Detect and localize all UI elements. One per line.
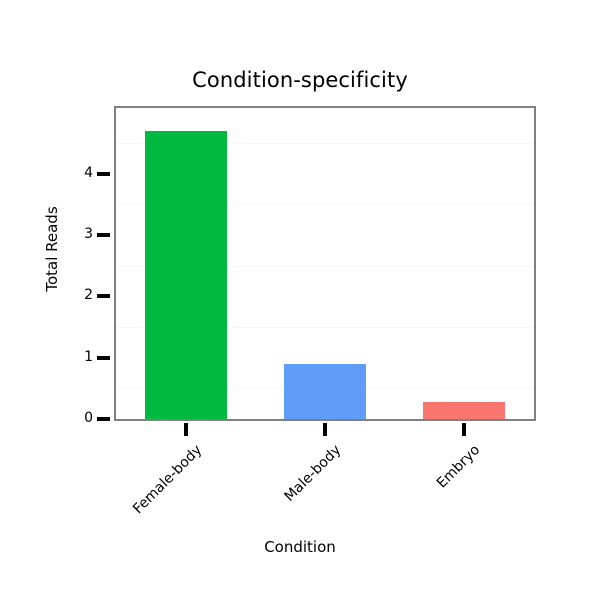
y-tick-label: 4 xyxy=(69,165,93,181)
y-tick-label: 0 xyxy=(69,410,93,426)
y-tick-mark xyxy=(97,172,110,176)
y-tick-mark xyxy=(97,294,110,298)
chart-canvas: Condition-specificity 01234 Total Reads … xyxy=(0,0,600,600)
bar-female-body[interactable] xyxy=(145,131,227,419)
y-axis-title: Total Reads xyxy=(43,189,61,309)
y-tick-mark xyxy=(97,233,110,237)
y-tick-mark xyxy=(97,417,110,421)
x-tick-label: Female-body xyxy=(52,442,205,595)
plot-area xyxy=(116,108,534,419)
bar-embryo[interactable] xyxy=(423,402,505,419)
x-tick-mark xyxy=(184,423,188,436)
chart-title: Condition-specificity xyxy=(0,68,600,92)
bar-male-body[interactable] xyxy=(284,364,366,419)
plot-panel xyxy=(114,106,536,421)
x-tick-mark xyxy=(462,423,466,436)
x-tick-label: Male-body xyxy=(192,442,345,595)
y-tick-label: 2 xyxy=(69,287,93,303)
y-tick-label: 3 xyxy=(69,226,93,242)
x-tick-mark xyxy=(323,423,327,436)
x-tick-label: Embryo xyxy=(331,442,484,595)
y-tick-mark xyxy=(97,356,110,360)
y-tick-label: 1 xyxy=(69,349,93,365)
x-axis-title: Condition xyxy=(0,538,600,556)
